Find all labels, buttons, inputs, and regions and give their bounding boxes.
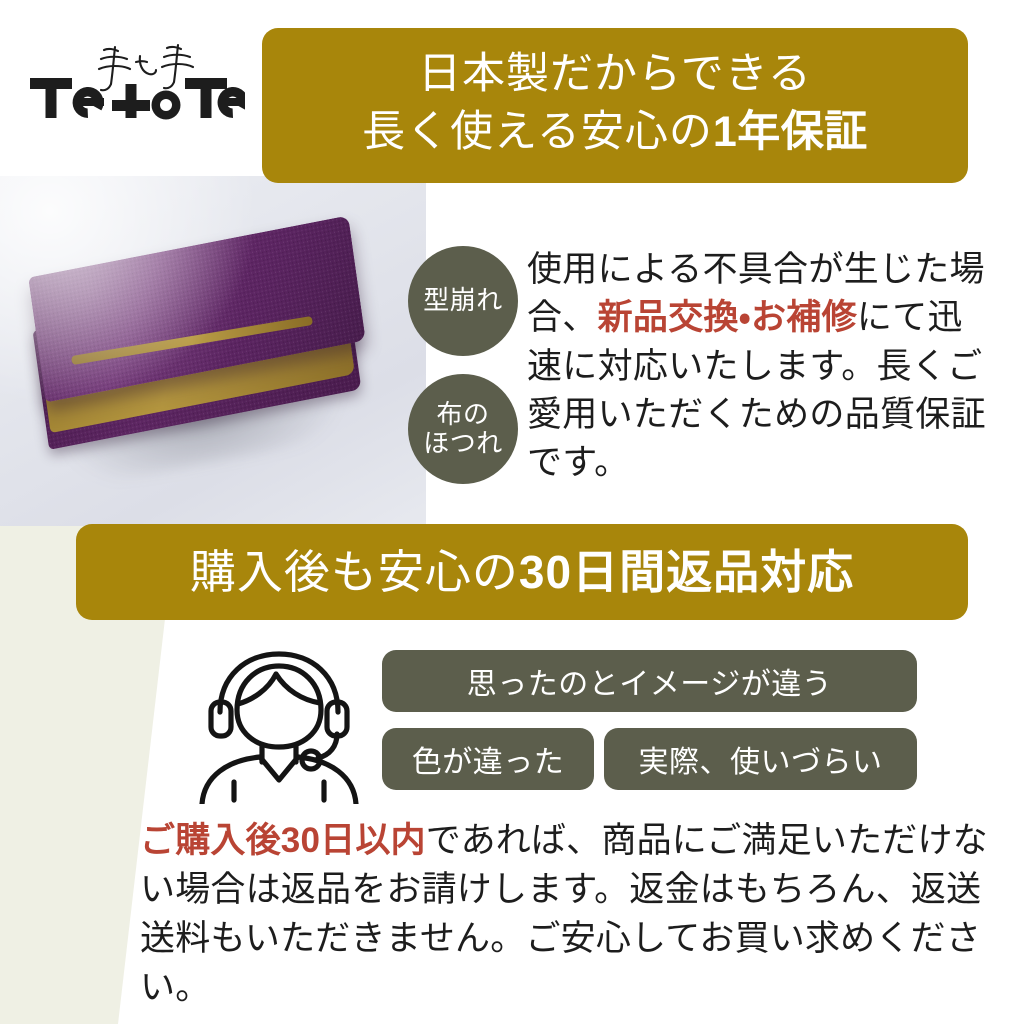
return-reason-pill-image: 思ったのとイメージが違う <box>382 650 917 712</box>
return-reason-pill-color: 色が違った <box>382 728 594 790</box>
warranty-issue-label-2-line1: 布の <box>436 399 489 429</box>
warranty-banner: 日本製だからできる 長く使える安心の1年保証 <box>262 28 968 183</box>
returns-banner-line: 購入後も安心の30日間返品対応 <box>190 549 854 595</box>
tetote-logo-icon <box>30 42 245 130</box>
warranty-issue-label-2: 布のほつれ <box>423 400 503 458</box>
warranty-banner-line1: 日本製だからできる <box>418 46 812 104</box>
warranty-banner-line2-normal: 長く使える安心の <box>362 108 713 156</box>
warranty-banner-line2: 長く使える安心の1年保証 <box>362 104 868 162</box>
warranty-issue-label-2-line2: ほつれ <box>423 428 503 458</box>
product-photo-wallet <box>12 224 408 494</box>
return-reason-label-1: 思ったのとイメージが違う <box>467 659 832 703</box>
return-reason-pill-usability: 実際、使いづらい <box>604 728 917 790</box>
warranty-description-highlight: 新品交換・お補修 <box>598 298 857 337</box>
returns-banner: 購入後も安心の30日間返品対応 <box>76 524 968 620</box>
advertisement-stage: 日本製だからできる 長く使える安心の1年保証 型崩れ 布のほつれ 使用による不具… <box>0 0 1024 1024</box>
headset-operator-glyph <box>190 642 368 804</box>
headset-operator-icon <box>190 642 368 804</box>
returns-banner-normal: 購入後も安心の <box>190 546 519 598</box>
return-reason-label-3: 実際、使いづらい <box>639 737 883 781</box>
returns-banner-bold: 30日間返品対応 <box>519 546 854 598</box>
returns-description: ご購入後30日以内であれば、商品にご満足いただけない場合は返品をお請けします。返… <box>140 816 1010 1012</box>
warranty-issue-circle-katakuzure: 型崩れ <box>408 246 518 356</box>
warranty-issue-circle-hotsure: 布のほつれ <box>408 374 518 484</box>
return-reason-label-2: 色が違った <box>412 737 565 781</box>
warranty-banner-line2-bold: 1年保証 <box>713 108 868 156</box>
warranty-issue-label-1: 型崩れ <box>423 286 503 315</box>
product-photo-panel <box>0 176 426 526</box>
brand-logo[interactable] <box>30 42 245 130</box>
returns-description-highlight: ご購入後30日以内 <box>140 821 426 860</box>
warranty-description: 使用による不具合が生じた場合、新品交換・お補修にて迅速に対応いたします。長くご愛… <box>527 246 997 487</box>
